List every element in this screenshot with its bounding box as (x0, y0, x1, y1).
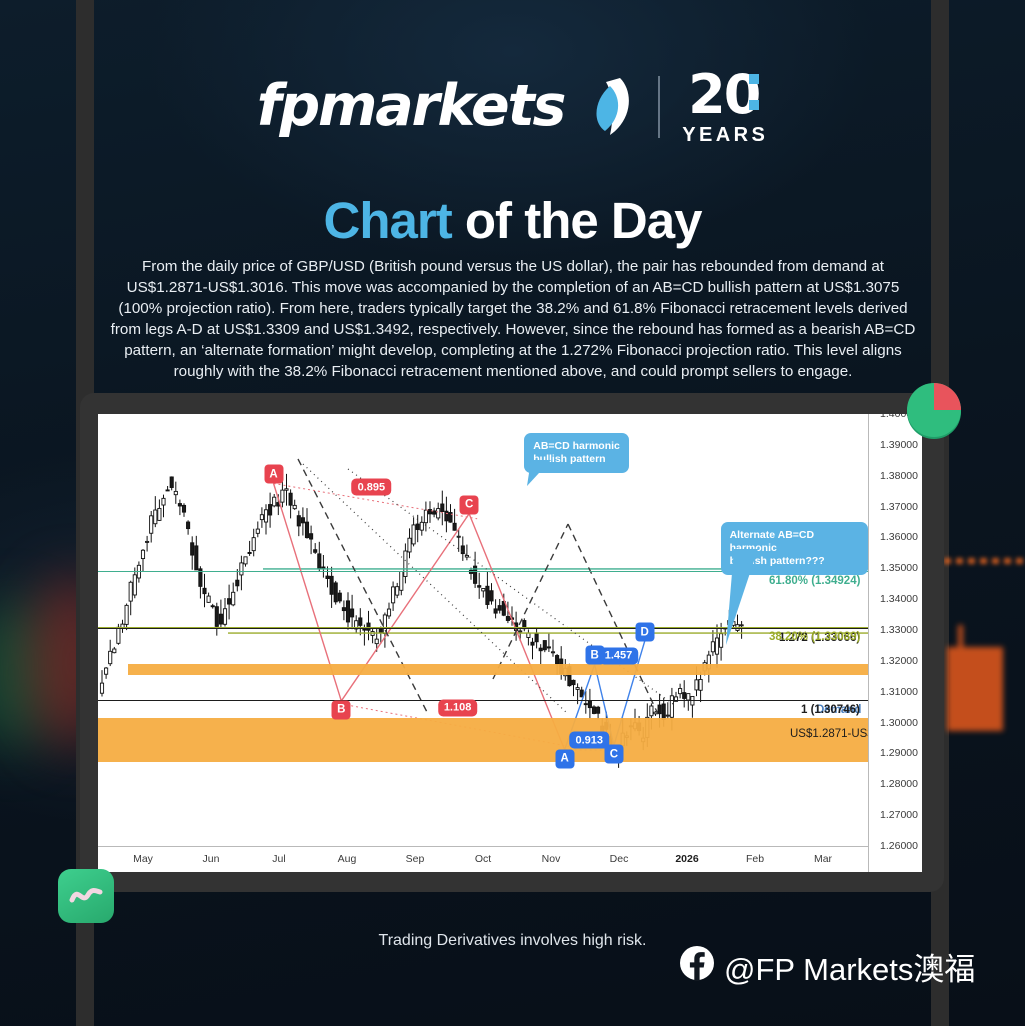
background-candlestick (947, 647, 1003, 731)
badge-years-text: YEARS (682, 125, 768, 145)
time-axis-tick: Nov (542, 853, 561, 865)
time-axis-tick: Sep (406, 853, 425, 865)
price-axis-tick: 1.26000 (880, 840, 918, 852)
price-axis[interactable]: 1.400001.390001.380001.370001.360001.350… (868, 414, 922, 872)
price-axis-tick: 1.36000 (880, 531, 918, 543)
swoosh-icon (580, 76, 636, 138)
price-axis-tick: 1.32000 (880, 655, 918, 667)
harmonic-point-blue-a: A (555, 749, 574, 768)
watermark-text: @FP Markets澳福 (724, 944, 975, 989)
time-axis-tick: Mar (814, 853, 832, 865)
fib-ratio-label: 0.913 (569, 732, 609, 749)
header-divider (658, 76, 660, 138)
badge-number: 20 (688, 68, 762, 122)
analysis-paragraph: From the daily price of GBP/USD (British… (108, 256, 918, 382)
price-axis-tick: 1.35000 (880, 562, 918, 574)
price-chart-plot[interactable]: DemandUS$1.2871-US$1.30 61.80% (1.34924)… (98, 414, 868, 846)
brand-header: fpmarkets 20 YEARS (0, 68, 1025, 145)
callout-tail (724, 549, 784, 659)
time-axis-tick: 2026 (675, 853, 698, 865)
demand-zone (98, 718, 868, 763)
time-axis-tick: Oct (475, 853, 491, 865)
price-axis-tick: 1.38000 (880, 470, 918, 482)
price-axis-tick: 1.28000 (880, 778, 918, 790)
time-axis-tick: Feb (746, 853, 764, 865)
anniversary-badge: 20 YEARS (682, 68, 768, 145)
fib-ratio-label: 1.457 (599, 647, 639, 664)
demand-zone-range: US$1.2871-US$1.30 (790, 728, 868, 740)
harmonic-point-blue-d: D (635, 623, 654, 642)
price-axis-tick: 1.29000 (880, 747, 918, 759)
chart-screen: DemandUS$1.2871-US$1.30 61.80% (1.34924)… (98, 414, 922, 872)
callout-tail (527, 460, 587, 570)
badge-accent-dots (748, 68, 762, 118)
price-axis-tick: 1.27000 (880, 809, 918, 821)
price-axis-tick: 1.37000 (880, 501, 918, 513)
time-axis-tick: May (133, 853, 153, 865)
harmonic-point-red-b: B (332, 700, 351, 719)
time-axis-tick: Jun (203, 853, 220, 865)
fib-level-label: 1 (1.30746) (801, 704, 860, 716)
time-axis[interactable]: MayJunJulAugSepOctNovDec2026FebMar (98, 846, 868, 872)
time-axis-tick: Aug (338, 853, 357, 865)
background-dotted-line (944, 558, 1025, 564)
harmonic-point-red-c: C (460, 495, 479, 514)
price-axis-tick: 1.31000 (880, 686, 918, 698)
price-axis-tick: 1.33000 (880, 624, 918, 636)
fib-ratio-label: 0.895 (352, 479, 392, 496)
pie-chart-icon (903, 379, 965, 441)
fpmarkets-logo-text: fpmarkets (257, 78, 564, 135)
chart-device-frame: DemandUS$1.2871-US$1.30 61.80% (1.34924)… (80, 393, 944, 892)
page-title: Chart of the Day (0, 193, 1025, 249)
time-axis-tick: Dec (610, 853, 629, 865)
price-axis-tick: 1.34000 (880, 593, 918, 605)
fib-ratio-label: 1.108 (438, 699, 478, 716)
page-title-accent: Chart (324, 192, 452, 249)
wave-chart-icon (58, 869, 114, 923)
price-axis-tick: 1.30000 (880, 717, 918, 729)
time-axis-tick: Jul (272, 853, 285, 865)
social-watermark: @FP Markets澳福 (679, 944, 975, 989)
page-title-plain: of the Day (452, 192, 702, 249)
fib-level-line (98, 700, 868, 701)
harmonic-point-red-a: A (264, 465, 283, 484)
facebook-icon (679, 945, 715, 989)
supply-zone (128, 664, 868, 675)
